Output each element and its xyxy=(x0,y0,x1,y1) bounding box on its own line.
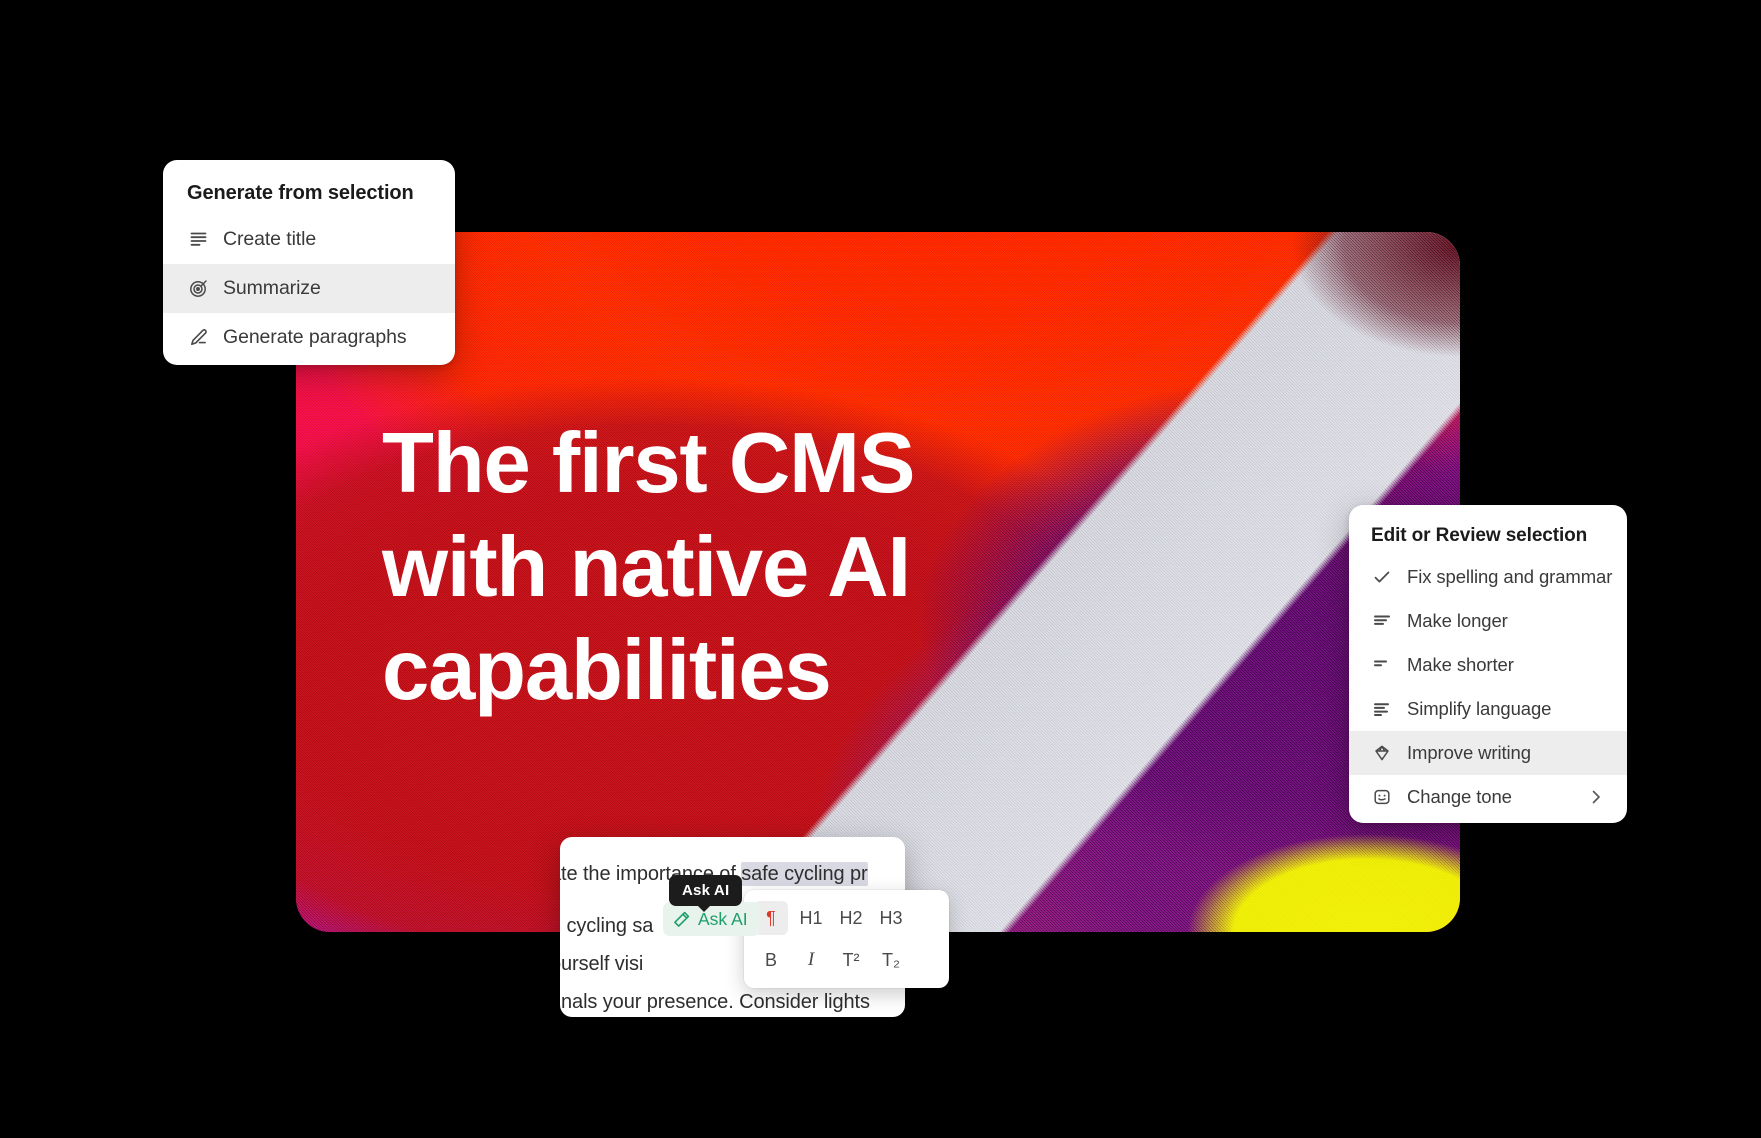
selected-text: safe cycling pr xyxy=(741,862,867,886)
toolbar-row-inline-styles: B I T² T₂ xyxy=(754,940,939,980)
ask-ai-button[interactable]: Ask AI xyxy=(663,902,760,936)
subscript-button[interactable]: T₂ xyxy=(874,943,908,977)
make-longer-icon xyxy=(1371,610,1393,632)
menu-item-make-longer[interactable]: Make longer xyxy=(1349,599,1627,643)
heading-1-button[interactable]: H1 xyxy=(794,901,828,935)
document-line: gnals your presence. Consider lights xyxy=(560,983,905,1017)
menu-item-summarize[interactable]: Summarize xyxy=(163,264,455,313)
heading-3-button[interactable]: H3 xyxy=(874,901,908,935)
bold-button[interactable]: B xyxy=(754,943,788,977)
superscript-button[interactable]: T² xyxy=(834,943,868,977)
menu-item-make-shorter[interactable]: Make shorter xyxy=(1349,643,1627,687)
toolbar-row-block-styles: ¶ H1 H2 H3 xyxy=(754,898,939,938)
make-shorter-icon xyxy=(1371,654,1393,676)
menu-item-label: Make shorter xyxy=(1407,654,1605,676)
generate-menu-title: Generate from selection xyxy=(163,160,455,215)
menu-item-label: Fix spelling and grammar xyxy=(1407,566,1612,588)
simplify-icon xyxy=(1371,698,1393,720)
menu-item-generate-paragraphs[interactable]: Generate paragraphs xyxy=(163,313,455,365)
menu-item-create-title[interactable]: Create title xyxy=(163,215,455,264)
menu-item-change-tone[interactable]: Change tone xyxy=(1349,775,1627,823)
hero-headline: The first CMS with native AI capabilitie… xyxy=(382,412,1082,723)
screenshot-canvas: The first CMS with native AI capabilitie… xyxy=(0,0,1761,1138)
magic-wand-icon xyxy=(672,910,691,929)
menu-item-fix-spelling-and-grammar[interactable]: Fix spelling and grammar xyxy=(1349,555,1627,599)
menu-item-label: Make longer xyxy=(1407,610,1605,632)
menu-item-label: Simplify language xyxy=(1407,698,1605,720)
check-icon xyxy=(1371,566,1393,588)
menu-item-label: Improve writing xyxy=(1407,742,1605,764)
italic-button[interactable]: I xyxy=(794,943,828,977)
pencil-icon xyxy=(187,327,209,349)
menu-item-label: Summarize xyxy=(223,277,431,300)
generate-from-selection-menu: Generate from selection Create title Sum… xyxy=(163,160,455,365)
menu-item-label: Generate paragraphs xyxy=(223,326,431,349)
edit-menu-title: Edit or Review selection xyxy=(1349,505,1627,555)
menu-item-simplify-language[interactable]: Simplify language xyxy=(1349,687,1627,731)
target-icon xyxy=(187,278,209,300)
formatting-toolbar: ¶ H1 H2 H3 B I T² T₂ xyxy=(744,890,949,988)
edit-or-review-selection-menu: Edit or Review selection Fix spelling an… xyxy=(1349,505,1627,823)
menu-item-improve-writing[interactable]: Improve writing xyxy=(1349,731,1627,775)
smiley-mask-icon xyxy=(1371,786,1393,808)
diamond-icon xyxy=(1371,742,1393,764)
chevron-right-icon xyxy=(1587,788,1605,806)
menu-item-label: Create title xyxy=(223,228,431,251)
title-lines-icon xyxy=(187,229,209,251)
ask-ai-tooltip: Ask AI xyxy=(669,875,742,906)
heading-2-button[interactable]: H2 xyxy=(834,901,868,935)
menu-item-label: Change tone xyxy=(1407,786,1573,808)
